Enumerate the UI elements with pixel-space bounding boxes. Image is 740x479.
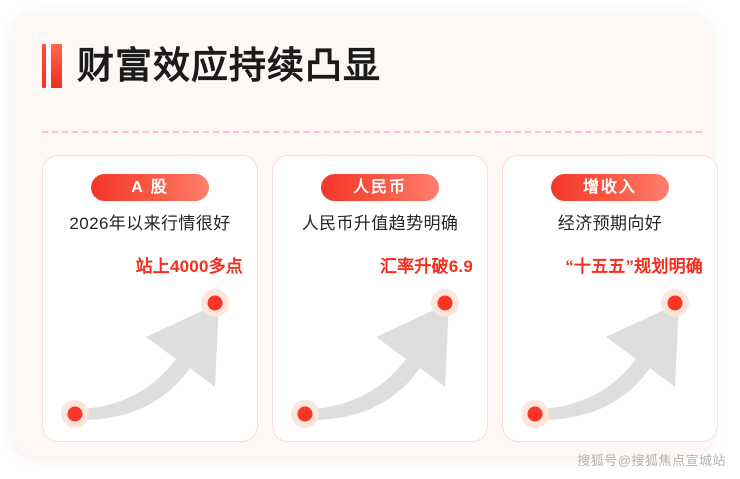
accent-bar-thick (51, 44, 62, 88)
card-highlight: “十五五”规划明确 (565, 252, 703, 277)
infographic-stage: 财富效应持续凸显 A 股 2026年以来行情很好 站上4000多点 (0, 0, 740, 479)
page-title: 财富效应持续凸显 (77, 44, 381, 88)
cards-row: A 股 2026年以来行情很好 站上4000多点 人民币 人民币升值趋势明确 (42, 155, 720, 442)
card-subtitle: 经济预期向好 (503, 209, 717, 234)
accent-bar-thin (42, 44, 46, 88)
header: 财富效应持续凸显 (42, 38, 381, 94)
card-subtitle: 人民币升值趋势明确 (273, 209, 487, 234)
growth-arrow-icon (273, 281, 488, 441)
title-accent-bars-icon (42, 44, 62, 88)
card-badge: A 股 (91, 174, 209, 201)
content-panel: 财富效应持续凸显 A 股 2026年以来行情很好 站上4000多点 (11, 11, 713, 457)
dashed-divider (42, 131, 702, 133)
card-badge: 人民币 (321, 174, 439, 201)
info-card[interactable]: 增收入 经济预期向好 “十五五”规划明确 (502, 155, 718, 442)
growth-arrow-icon (503, 281, 718, 441)
card-badge: 增收入 (551, 174, 669, 201)
growth-arrow-icon (43, 281, 258, 441)
card-subtitle: 2026年以来行情很好 (43, 209, 257, 234)
info-card[interactable]: 人民币 人民币升值趋势明确 汇率升破6.9 (272, 155, 488, 442)
info-card[interactable]: A 股 2026年以来行情很好 站上4000多点 (42, 155, 258, 442)
card-highlight: 汇率升破6.9 (380, 252, 473, 277)
watermark: 搜狐号@搜狐焦点宣城站 (577, 450, 726, 469)
card-highlight: 站上4000多点 (136, 252, 243, 277)
